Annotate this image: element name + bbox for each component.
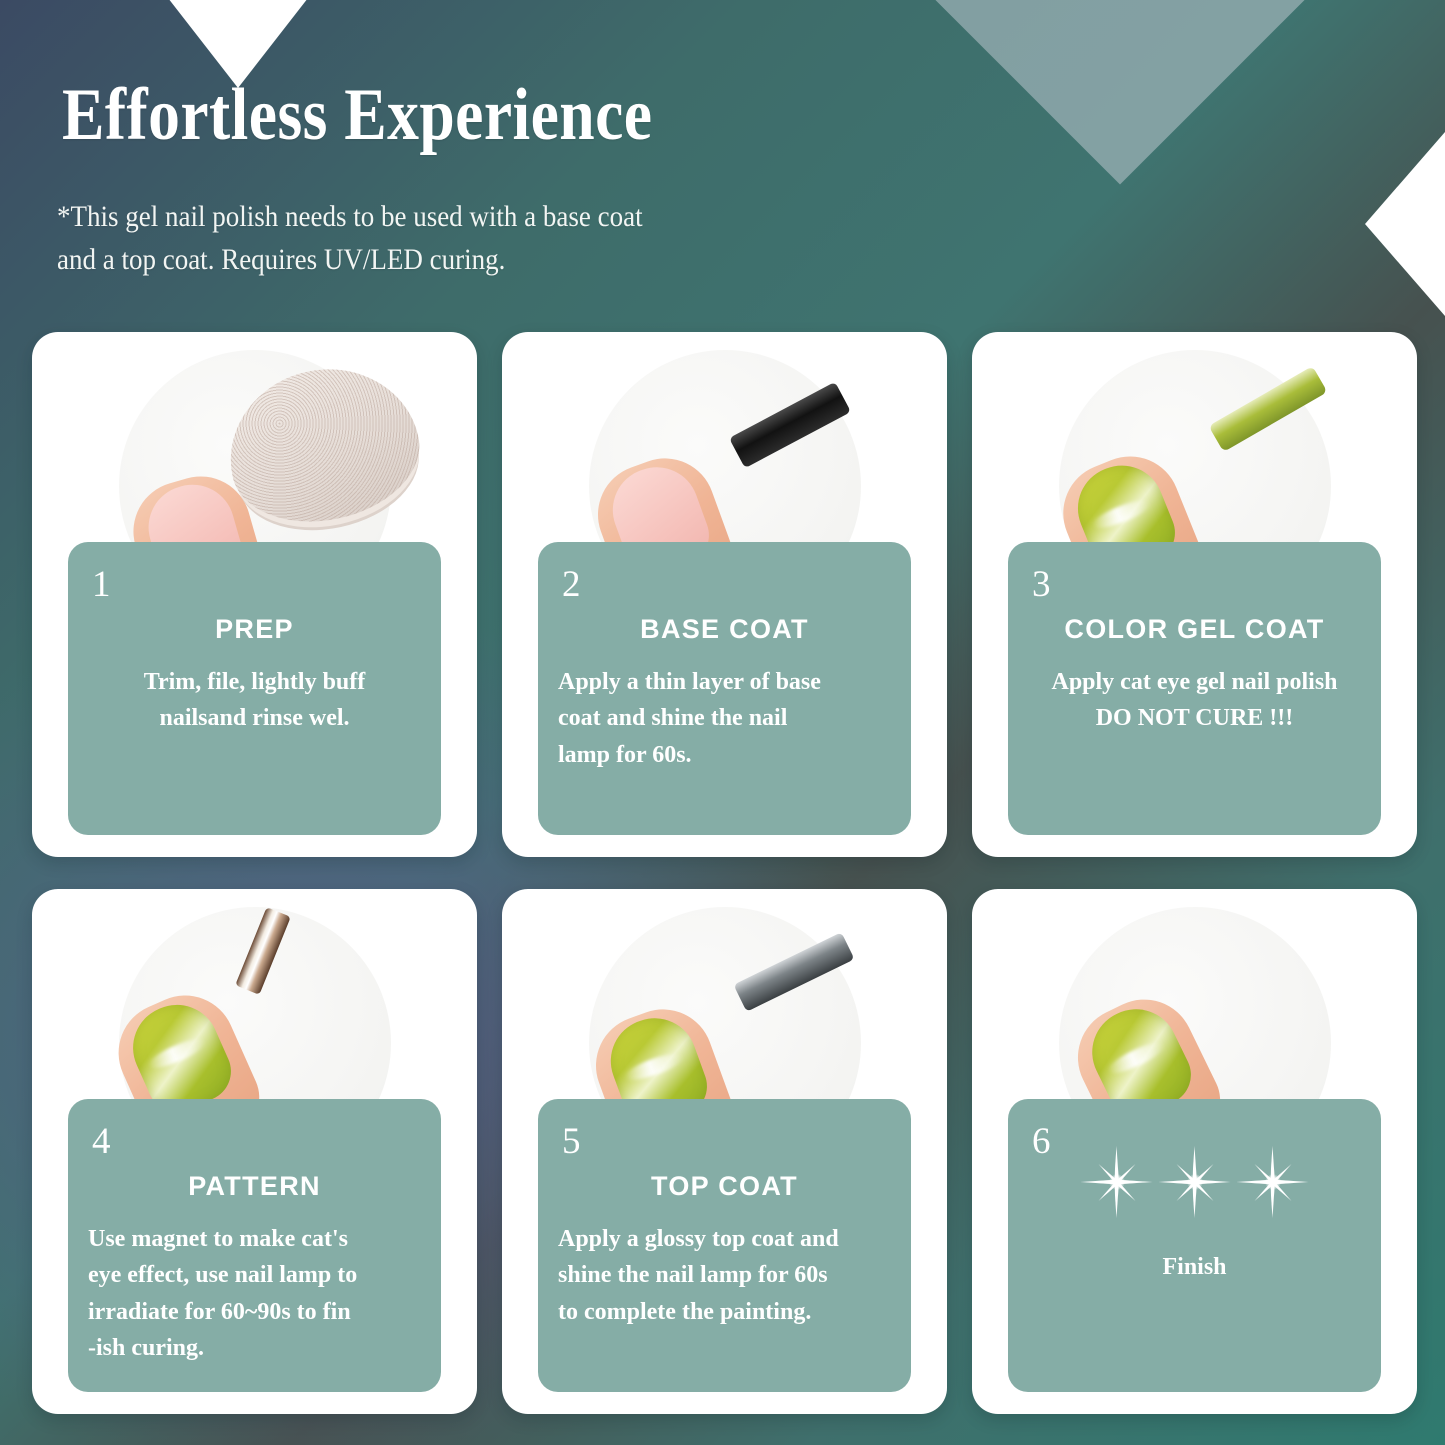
step-body: Finish: [1028, 1249, 1361, 1285]
triangle-white-right-decoration: [1365, 132, 1445, 316]
steps-grid: 1 PREP Trim, file, lightly buff nailsand…: [32, 332, 1417, 1414]
step-number: 4: [92, 1123, 111, 1160]
step-title: BASE COAT: [538, 614, 911, 645]
step-number: 3: [1032, 566, 1051, 603]
step-body: Use magnet to make cat's eye effect, use…: [88, 1221, 421, 1367]
step-title: COLOR GEL COAT: [1008, 614, 1381, 645]
step-panel-4: 4 PATTERN Use magnet to make cat's eye e…: [68, 1099, 441, 1392]
cat-eye-shimmer: [622, 1048, 686, 1085]
step-card-4[interactable]: 4 PATTERN Use magnet to make cat's eye e…: [32, 889, 477, 1414]
step-body: Apply cat eye gel nail polish DO NOT CUR…: [1028, 664, 1361, 737]
sparkle-icon: [1081, 1146, 1153, 1218]
sparkle-icon: [1237, 1146, 1309, 1218]
step-card-1[interactable]: 1 PREP Trim, file, lightly buff nailsand…: [32, 332, 477, 857]
sparkle-icon: [1159, 1146, 1231, 1218]
step-body: Apply a glossy top coat and shine the na…: [558, 1221, 891, 1330]
step-panel-5: 5 TOP COAT Apply a glossy top coat and s…: [538, 1099, 911, 1392]
step-panel-6: 6 Finish: [1008, 1099, 1381, 1392]
step-body: Apply a thin layer of base coat and shin…: [558, 664, 891, 773]
step-card-5[interactable]: 5 TOP COAT Apply a glossy top coat and s…: [502, 889, 947, 1414]
step-title: PREP: [68, 614, 441, 645]
page-subtitle: *This gel nail polish needs to be used w…: [57, 196, 867, 281]
step-panel-2: 2 BASE COAT Apply a thin layer of base c…: [538, 542, 911, 835]
step-number: 1: [92, 566, 111, 603]
cat-eye-shimmer: [1105, 1037, 1168, 1079]
step-number: 2: [562, 566, 581, 603]
page-title: Effortless Experience: [62, 78, 652, 152]
infographic-stage: Effortless Experience *This gel nail pol…: [0, 0, 1445, 1445]
step-panel-3: 3 COLOR GEL COAT Apply cat eye gel nail …: [1008, 542, 1381, 835]
sparkle-group: [1008, 1137, 1381, 1227]
step-card-3[interactable]: 3 COLOR GEL COAT Apply cat eye gel nail …: [972, 332, 1417, 857]
step-title: TOP COAT: [538, 1171, 911, 1202]
diamond-gray-decoration: [865, 0, 1374, 185]
cat-eye-shimmer: [1090, 495, 1154, 534]
step-card-6[interactable]: 6 Finish: [972, 889, 1417, 1414]
step-card-2[interactable]: 2 BASE COAT Apply a thin layer of base c…: [502, 332, 947, 857]
step-body: Trim, file, lightly buff nailsand rinse …: [88, 664, 421, 737]
step-title: PATTERN: [68, 1171, 441, 1202]
step-panel-1: 1 PREP Trim, file, lightly buff nailsand…: [68, 542, 441, 835]
cat-eye-shimmer: [145, 1033, 208, 1073]
step-number: 5: [562, 1123, 581, 1160]
